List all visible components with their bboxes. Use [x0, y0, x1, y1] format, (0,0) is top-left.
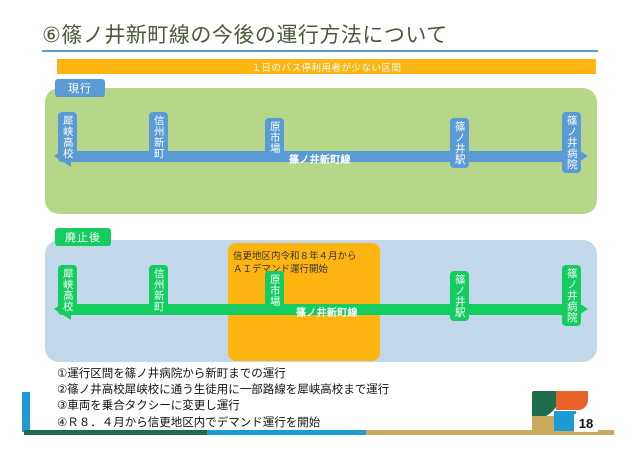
station-label: 犀峡高校	[61, 115, 74, 159]
station-current-shinonoi-byoin: 篠ノ井病院	[562, 112, 581, 173]
note-item: ②篠ノ井高校犀峡校に通う生徒用に一部路線を犀峡高校まで運行	[57, 382, 527, 398]
logo-shape-blue	[554, 411, 576, 431]
logo-shape-orange	[556, 391, 588, 410]
slide-canvas: ⑥篠ノ井新町線の今後の運行方法について １日のバス停利用者が少ない区間 現行 篠…	[0, 0, 640, 453]
low-ridership-banner-label: １日のバス停利用者が少ない区間	[251, 60, 401, 74]
station-current-shinonoi-eki: 篠ノ井駅	[450, 118, 469, 168]
station-label: 篠ノ井病院	[565, 268, 578, 323]
station-current-shinshu-shinmachi: 信州新町	[149, 112, 168, 162]
logo-shape-tan	[532, 416, 556, 431]
station-label: 原市場	[268, 274, 281, 307]
note-item: ④Ｒ８．４月から信更地区内でデマンド運行を開始	[57, 415, 527, 431]
page-number: 18	[574, 414, 598, 432]
station-label: 篠ノ井病院	[565, 115, 578, 170]
left-accent-bar	[22, 392, 30, 432]
station-current-saikyo-koko: 犀峡高校	[58, 112, 77, 162]
page-title: ⑥篠ノ井新町線の今後の運行方法について	[42, 19, 448, 49]
station-current-haraichiba: 原市場	[265, 118, 284, 157]
title-divider	[42, 50, 598, 52]
note-item: ①運行区間を篠ノ井病院から新町までの運行	[57, 366, 527, 382]
station-after-shinonoi-byoin: 篠ノ井病院	[562, 265, 581, 326]
route-name-current: 篠ノ井新町線	[289, 151, 351, 166]
ai-demand-zone-label: 信更地区内令和８年４月から ＡＩデマンド運行開始	[233, 250, 383, 276]
note-item: ③車両を乗合タクシーに変更し運行	[57, 398, 527, 414]
station-after-shinshu-shinmachi: 信州新町	[149, 265, 168, 315]
station-label: 信州新町	[152, 115, 165, 159]
station-after-shinonoi-eki: 篠ノ井駅	[450, 271, 469, 321]
station-label: 原市場	[268, 121, 281, 154]
footer-segment-green	[24, 430, 207, 435]
station-label: 篠ノ井駅	[453, 121, 466, 165]
station-after-saikyo-koko: 犀峡高校	[58, 265, 77, 315]
station-label: 犀峡高校	[61, 268, 74, 312]
station-label: 信州新町	[152, 268, 165, 312]
footer-strip	[24, 430, 614, 435]
station-label: 篠ノ井駅	[453, 274, 466, 318]
section-badge-current: 現行	[55, 79, 105, 97]
route-name-after: 篠ノ井新町線	[296, 304, 358, 319]
station-after-haraichiba: 原市場	[265, 271, 284, 310]
low-ridership-banner: １日のバス停利用者が少ない区間	[57, 59, 596, 74]
footer-segment-blue	[207, 430, 366, 435]
section-badge-after: 廃止後	[55, 228, 111, 246]
notes-list: ①運行区間を篠ノ井病院から新町までの運行 ②篠ノ井高校犀峡校に通う生徒用に一部路…	[57, 366, 527, 431]
